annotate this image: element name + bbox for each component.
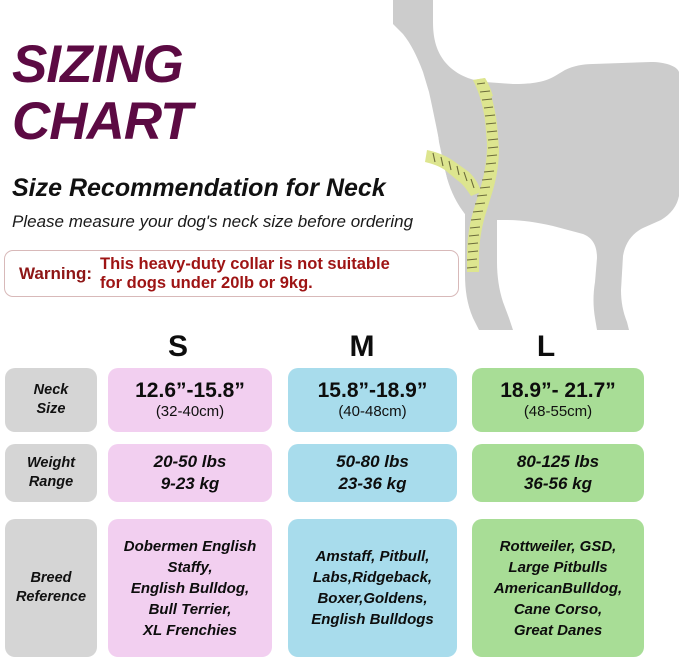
warning-message: This heavy-duty collar is not suitable f…	[100, 255, 390, 293]
value-secondary: (40-48cm)	[338, 403, 406, 421]
breed-reference-small: Dobermen English Staffy, English Bulldog…	[108, 519, 272, 657]
breed-line: Staffy,	[167, 557, 212, 578]
value-primary: 80-125 lbs	[517, 451, 599, 473]
warning-message-line-2: for dogs under 20lb or 9kg.	[100, 274, 390, 293]
breed-line: Large Pitbulls	[508, 557, 607, 578]
warning-message-line-1: This heavy-duty collar is not suitable	[100, 255, 390, 274]
column-header-s: S	[148, 330, 208, 364]
row-label-neck-size: Neck Size	[5, 368, 97, 432]
breed-line: XL Frenchies	[143, 620, 237, 641]
value-secondary: (48-55cm)	[524, 403, 592, 421]
breed-line: Bull Terrier,	[149, 599, 232, 620]
subtitle: Size Recommendation for Neck	[12, 174, 386, 203]
breed-line: AmericanBulldog,	[494, 578, 622, 599]
breed-reference-large: Rottweiler, GSD, Large Pitbulls American…	[472, 519, 644, 657]
warning-label: Warning:	[5, 264, 100, 284]
title-line-1: SIZING	[12, 36, 192, 93]
table-row: Breed Reference Dobermen English Staffy,…	[0, 519, 679, 669]
neck-size-medium: 15.8”-18.9” (40-48cm)	[288, 368, 457, 432]
breed-line: English Bulldog,	[131, 578, 249, 599]
sizing-chart-page: SIZING CHART Size Recommendation for Nec…	[0, 0, 679, 672]
weight-range-large: 80-125 lbs 36-56 kg	[472, 444, 644, 502]
weight-range-medium: 50-80 lbs 23-36 kg	[288, 444, 457, 502]
row-label-line-2: Size	[36, 400, 65, 419]
page-title: SIZING CHART	[12, 36, 192, 150]
table-row: Neck Size 12.6”-15.8” (32-40cm) 15.8”-18…	[0, 364, 679, 442]
value-primary: 50-80 lbs	[336, 451, 409, 473]
instruction-text: Please measure your dog's neck size befo…	[12, 212, 413, 232]
neck-size-large: 18.9”- 21.7” (48-55cm)	[472, 368, 644, 432]
value-primary: 15.8”-18.9”	[318, 379, 428, 403]
breed-line: Great Danes	[514, 620, 602, 641]
column-header-l: L	[516, 330, 576, 364]
row-label-line-1: Neck	[34, 381, 69, 400]
value-secondary: (32-40cm)	[156, 403, 224, 421]
row-label-weight-range: Weight Range	[5, 444, 97, 502]
table-row: Weight Range 20-50 lbs 9-23 kg 50-80 lbs…	[0, 442, 679, 519]
breed-line: Rottweiler, GSD,	[500, 536, 617, 557]
breed-line: Amstaff, Pitbull,	[316, 546, 430, 567]
row-label-line-1: Weight	[27, 454, 75, 473]
table-header-row: S M L	[0, 330, 679, 364]
column-header-m: M	[332, 330, 392, 364]
breed-reference-medium: Amstaff, Pitbull, Labs,Ridgeback, Boxer,…	[288, 519, 457, 657]
row-label-line-1: Breed	[30, 569, 71, 588]
value-secondary: 9-23 kg	[161, 473, 220, 495]
breed-line: Cane Corso,	[514, 599, 602, 620]
value-secondary: 36-56 kg	[524, 473, 592, 495]
size-table: S M L Neck Size 12.6”-15.8” (32-40cm) 15…	[0, 330, 679, 669]
breed-line: Boxer,Goldens,	[317, 588, 427, 609]
row-label-line-2: Reference	[16, 588, 86, 607]
row-label-breed-reference: Breed Reference	[5, 519, 97, 657]
title-line-2: CHART	[12, 93, 192, 150]
breed-line: English Bulldogs	[311, 609, 434, 630]
breed-line: Labs,Ridgeback,	[313, 567, 432, 588]
value-primary: 20-50 lbs	[154, 451, 227, 473]
warning-box: Warning: This heavy-duty collar is not s…	[4, 250, 459, 297]
row-label-line-2: Range	[29, 473, 73, 492]
weight-range-small: 20-50 lbs 9-23 kg	[108, 444, 272, 502]
value-primary: 18.9”- 21.7”	[500, 379, 616, 403]
neck-size-small: 12.6”-15.8” (32-40cm)	[108, 368, 272, 432]
value-secondary: 23-36 kg	[338, 473, 406, 495]
value-primary: 12.6”-15.8”	[135, 379, 245, 403]
breed-line: Dobermen English	[124, 536, 257, 557]
